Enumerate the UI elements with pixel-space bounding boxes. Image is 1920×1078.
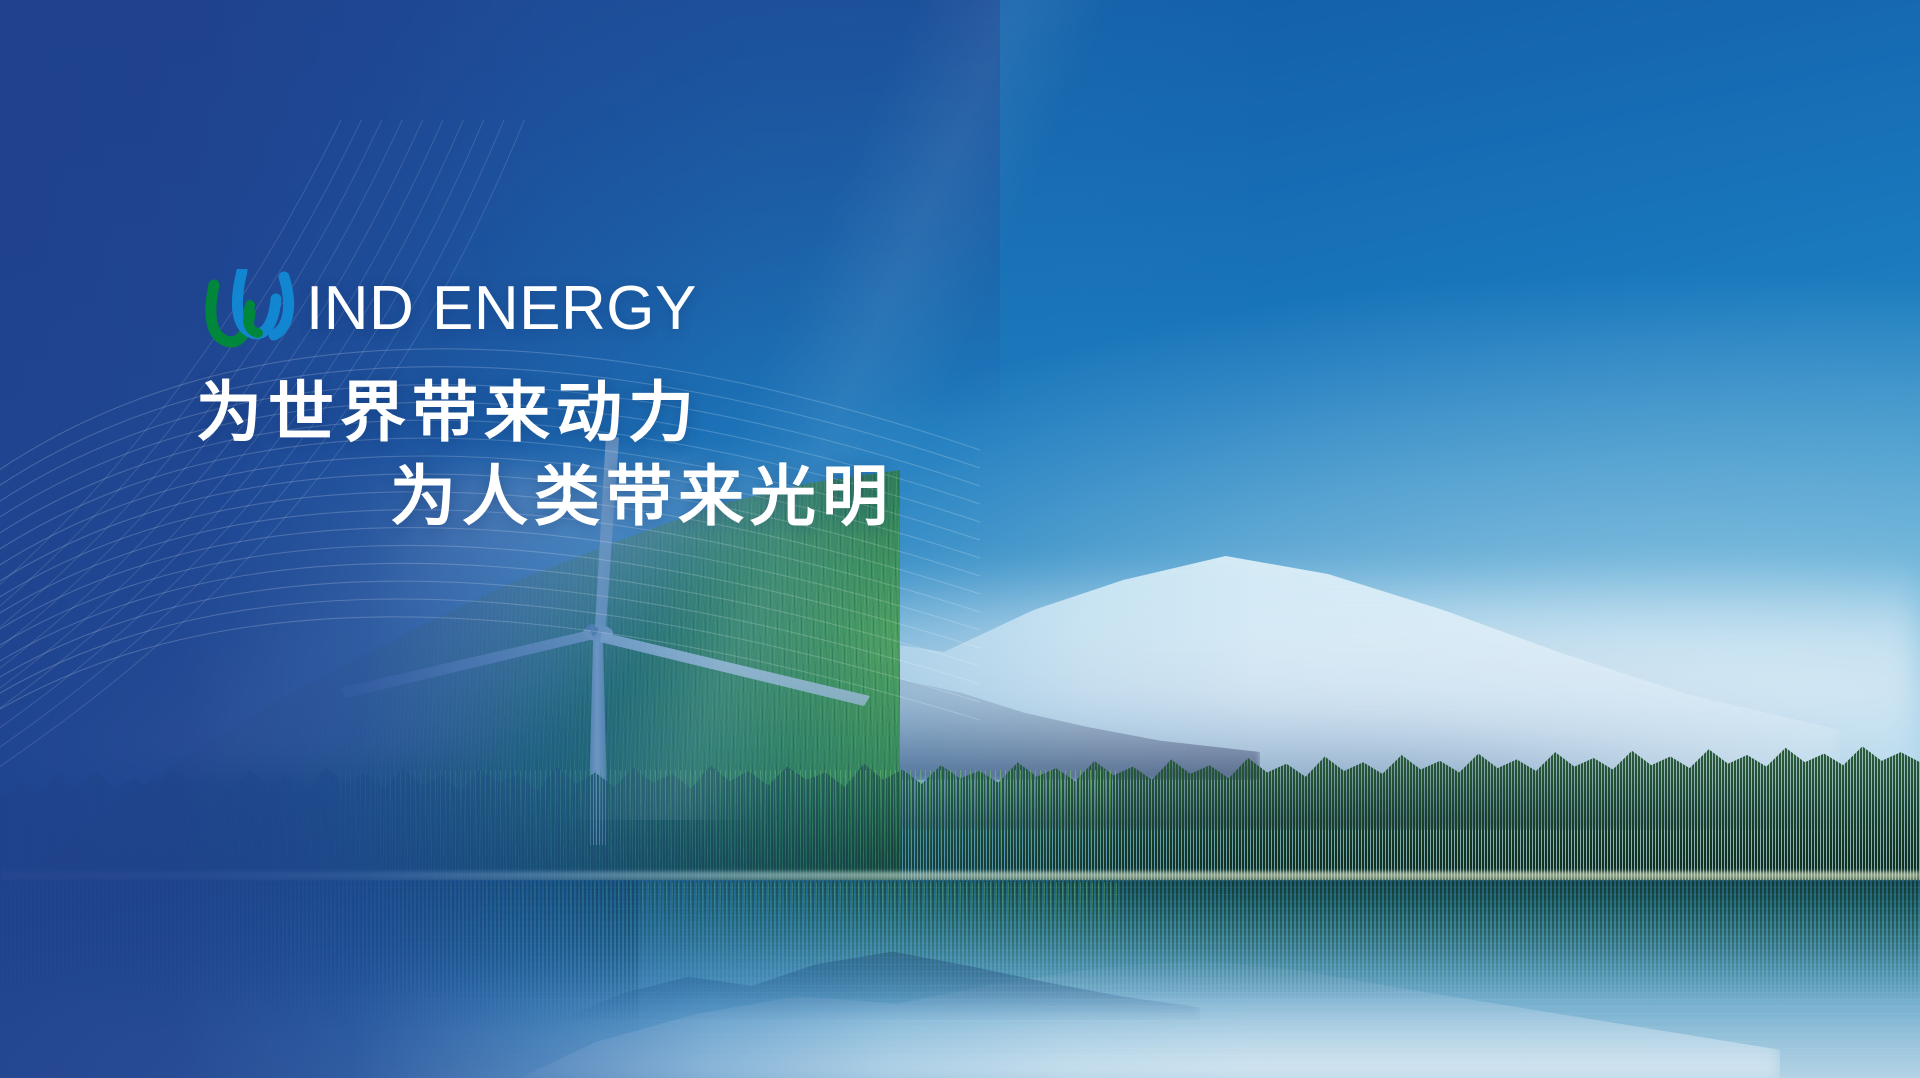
brand-text-block: IND ENERGY 为世界带来动力 为人类带来光明: [200, 268, 1200, 539]
wind-energy-banner: IND ENERGY 为世界带来动力 为人类带来光明: [0, 0, 1920, 1078]
brand-name-row: IND ENERGY: [200, 268, 1200, 350]
brand-name: IND ENERGY: [306, 278, 697, 340]
tagline-line-1: 为世界带来动力: [196, 370, 1200, 454]
tagline-line-2: 为人类带来光明: [390, 454, 1200, 538]
wind-w-logo-icon: [200, 269, 304, 349]
